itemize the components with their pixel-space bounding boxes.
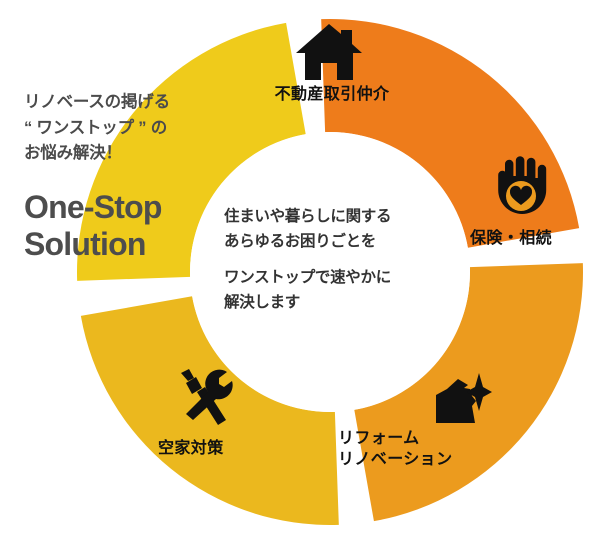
segment-label-insurance-inheritance: 保険・相続 [470,228,594,249]
segment-label-reform-renovation: リフォーム リノベーション [338,428,506,470]
center-paragraph-2: ワンストップで速やかに 解決します [224,265,439,315]
page-title: One-Stop Solution [24,189,234,265]
hand-heart-icon [492,156,550,227]
hammer-wrench-icon [172,368,236,431]
infographic-canvas: リノベースの掲げる “ ワンストップ ” の お悩み解決！ One-Stop S… [0,0,600,533]
center-paragraph-1: 住まいや暮らしに関する あらゆるお困りごとを [224,204,439,254]
segment-label-vacant-house: 空家対策 [158,438,286,459]
center-description: 住まいや暮らしに関する あらゆるお困りごとを ワンストップで速やかに 解決します [224,204,439,315]
segment-label-real-estate: 不動産取引仲介 [244,84,420,105]
headline-block: リノベースの掲げる “ ワンストップ ” の お悩み解決！ One-Stop S… [24,90,234,264]
headline-lead: リノベースの掲げる “ ワンストップ ” の お悩み解決！ [24,90,234,167]
house-sparkle-icon [428,372,492,433]
house-icon [290,22,368,87]
